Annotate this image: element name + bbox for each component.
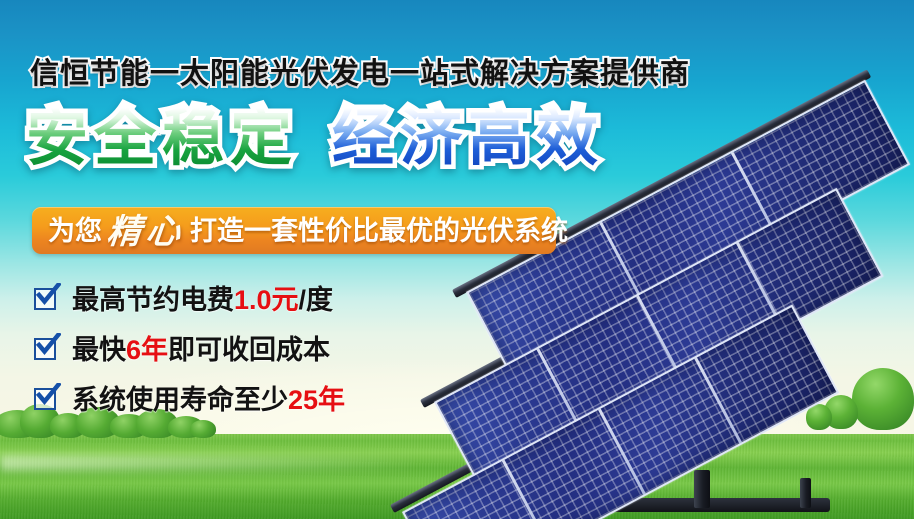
benefit-text: 最快6年即可收回成本	[72, 328, 330, 367]
main-title-green-fill: 安全稳定	[26, 108, 298, 170]
grass-field	[0, 434, 914, 519]
benefit-highlight: 1.0元	[234, 285, 299, 315]
main-title: 安全稳定 安全稳定 经济高效 经济高效	[26, 108, 604, 170]
benefit-text-before: 最高节约电费	[72, 285, 234, 315]
tree-large-right	[852, 368, 914, 430]
benefit-text: 最高节约电费1.0元/度	[72, 278, 333, 317]
benefit-highlight: 6年	[126, 335, 168, 365]
list-item: 系统使用寿命至少25年	[34, 372, 345, 422]
benefit-text-after: 即可收回成本	[168, 335, 330, 365]
benefit-list: 最高节约电费1.0元/度 最快6年即可收回成本 系统使用寿命至少25年	[34, 272, 345, 422]
main-title-blue: 经济高效 经济高效	[332, 108, 604, 170]
checkbox-checked-icon	[34, 336, 56, 358]
slogan-brush-word: 精心	[100, 215, 192, 251]
list-item: 最高节约电费1.0元/度	[34, 272, 345, 322]
slogan-text: 为您精心打造一套性价比最优的光伏系统	[48, 213, 568, 251]
slogan-suffix: 打造一套性价比最优的光伏系统	[190, 216, 568, 246]
benefit-text-before: 系统使用寿命至少	[72, 385, 288, 415]
tree-small-right-b	[806, 404, 832, 430]
slogan-prefix: 为您	[48, 216, 102, 246]
checkbox-checked-icon	[34, 386, 56, 408]
solar-promo-banner: 信恒节能一太阳能光伏发电一站式解决方案提供商 安全稳定 安全稳定 经济高效 经济…	[0, 0, 914, 519]
benefit-text: 系统使用寿命至少25年	[72, 378, 345, 417]
benefit-text-after: /度	[299, 285, 334, 315]
grass-light-streak	[0, 455, 420, 471]
benefit-text-before: 最快	[72, 335, 126, 365]
main-title-blue-fill: 经济高效	[332, 108, 604, 170]
page-title: 信恒节能一太阳能光伏发电一站式解决方案提供商	[30, 50, 690, 92]
list-item: 最快6年即可收回成本	[34, 322, 345, 372]
checkbox-checked-icon	[34, 286, 56, 308]
main-title-green: 安全稳定 安全稳定	[26, 108, 298, 170]
benefit-highlight: 25年	[288, 385, 345, 415]
